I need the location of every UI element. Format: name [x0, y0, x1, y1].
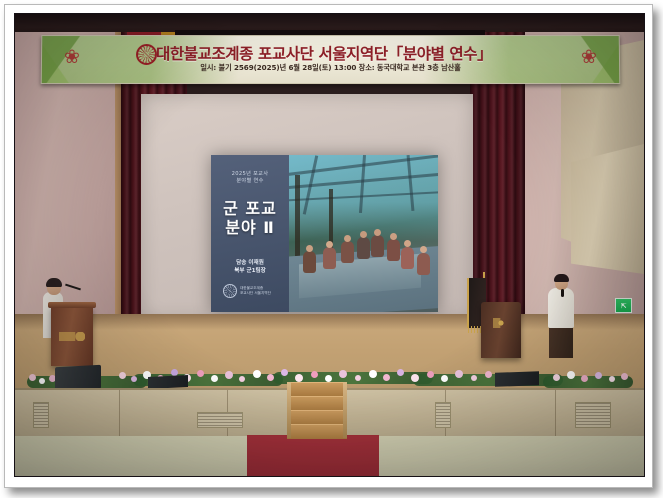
red-carpet — [247, 435, 379, 476]
handheld-microphone — [561, 289, 564, 297]
standing-speaker-legs — [549, 324, 573, 358]
slide-group-photo — [289, 155, 438, 312]
slide-org-logo: 대한불교조계종 포교사단 서울지역단 — [223, 283, 277, 299]
podium-left — [51, 306, 93, 366]
slide-title-panel: 2025년 포교사 분야별 연수 군 포교 분야 Ⅱ 담송 이재원 북부 군1팀… — [211, 155, 289, 312]
banner-subtitle: 일시: 불기 2569(2025)년 6월 28일(토) 13:00 장소: 동… — [42, 63, 619, 73]
podium-speaker-hair — [46, 278, 62, 287]
auditorium-photograph: ❀ ❀ 대한불교조계종 포교사단 서울지역단「분야별 연수」 일시: 불기 25… — [14, 13, 645, 477]
event-banner: ❀ ❀ 대한불교조계종 포교사단 서울지역단「분야별 연수」 일시: 불기 25… — [41, 35, 621, 84]
podium-right-emblem — [493, 318, 509, 328]
standing-speaker-hair — [554, 274, 569, 282]
emergency-exit-icon: ⇱ — [615, 298, 632, 313]
stage-monitor-speaker-right — [495, 371, 539, 387]
slide-presenter-text: 담송 이재원 북부 군1팀장 — [211, 259, 289, 275]
stage-steps — [287, 382, 347, 438]
podium-left-emblem — [59, 332, 85, 341]
presentation-slide: 2025년 포교사 분야별 연수 군 포교 분야 Ⅱ 담송 이재원 북부 군1팀… — [211, 155, 438, 312]
banner-title: 대한불교조계종 포교사단 서울지역단「분야별 연수」 — [156, 42, 556, 64]
image-frame: ❀ ❀ 대한불교조계종 포교사단 서울지역단「분야별 연수」 일시: 불기 25… — [0, 0, 663, 498]
podium-left-top — [48, 302, 96, 308]
right-wall-panel-lower — [571, 144, 644, 274]
exit-sign-glyph: ⇱ — [621, 302, 627, 310]
podium-right — [481, 302, 521, 358]
dharma-wheel-icon — [136, 44, 157, 65]
slide-kicker-text: 2025년 포교사 분야별 연수 — [211, 171, 289, 185]
dharma-wheel-icon-slide — [223, 284, 237, 298]
stage-monitor-speaker-center — [148, 375, 188, 389]
slide-org-logo-text: 대한불교조계종 포교사단 서울지역단 — [240, 286, 271, 296]
slide-title-text: 군 포교 분야 Ⅱ — [211, 199, 289, 237]
